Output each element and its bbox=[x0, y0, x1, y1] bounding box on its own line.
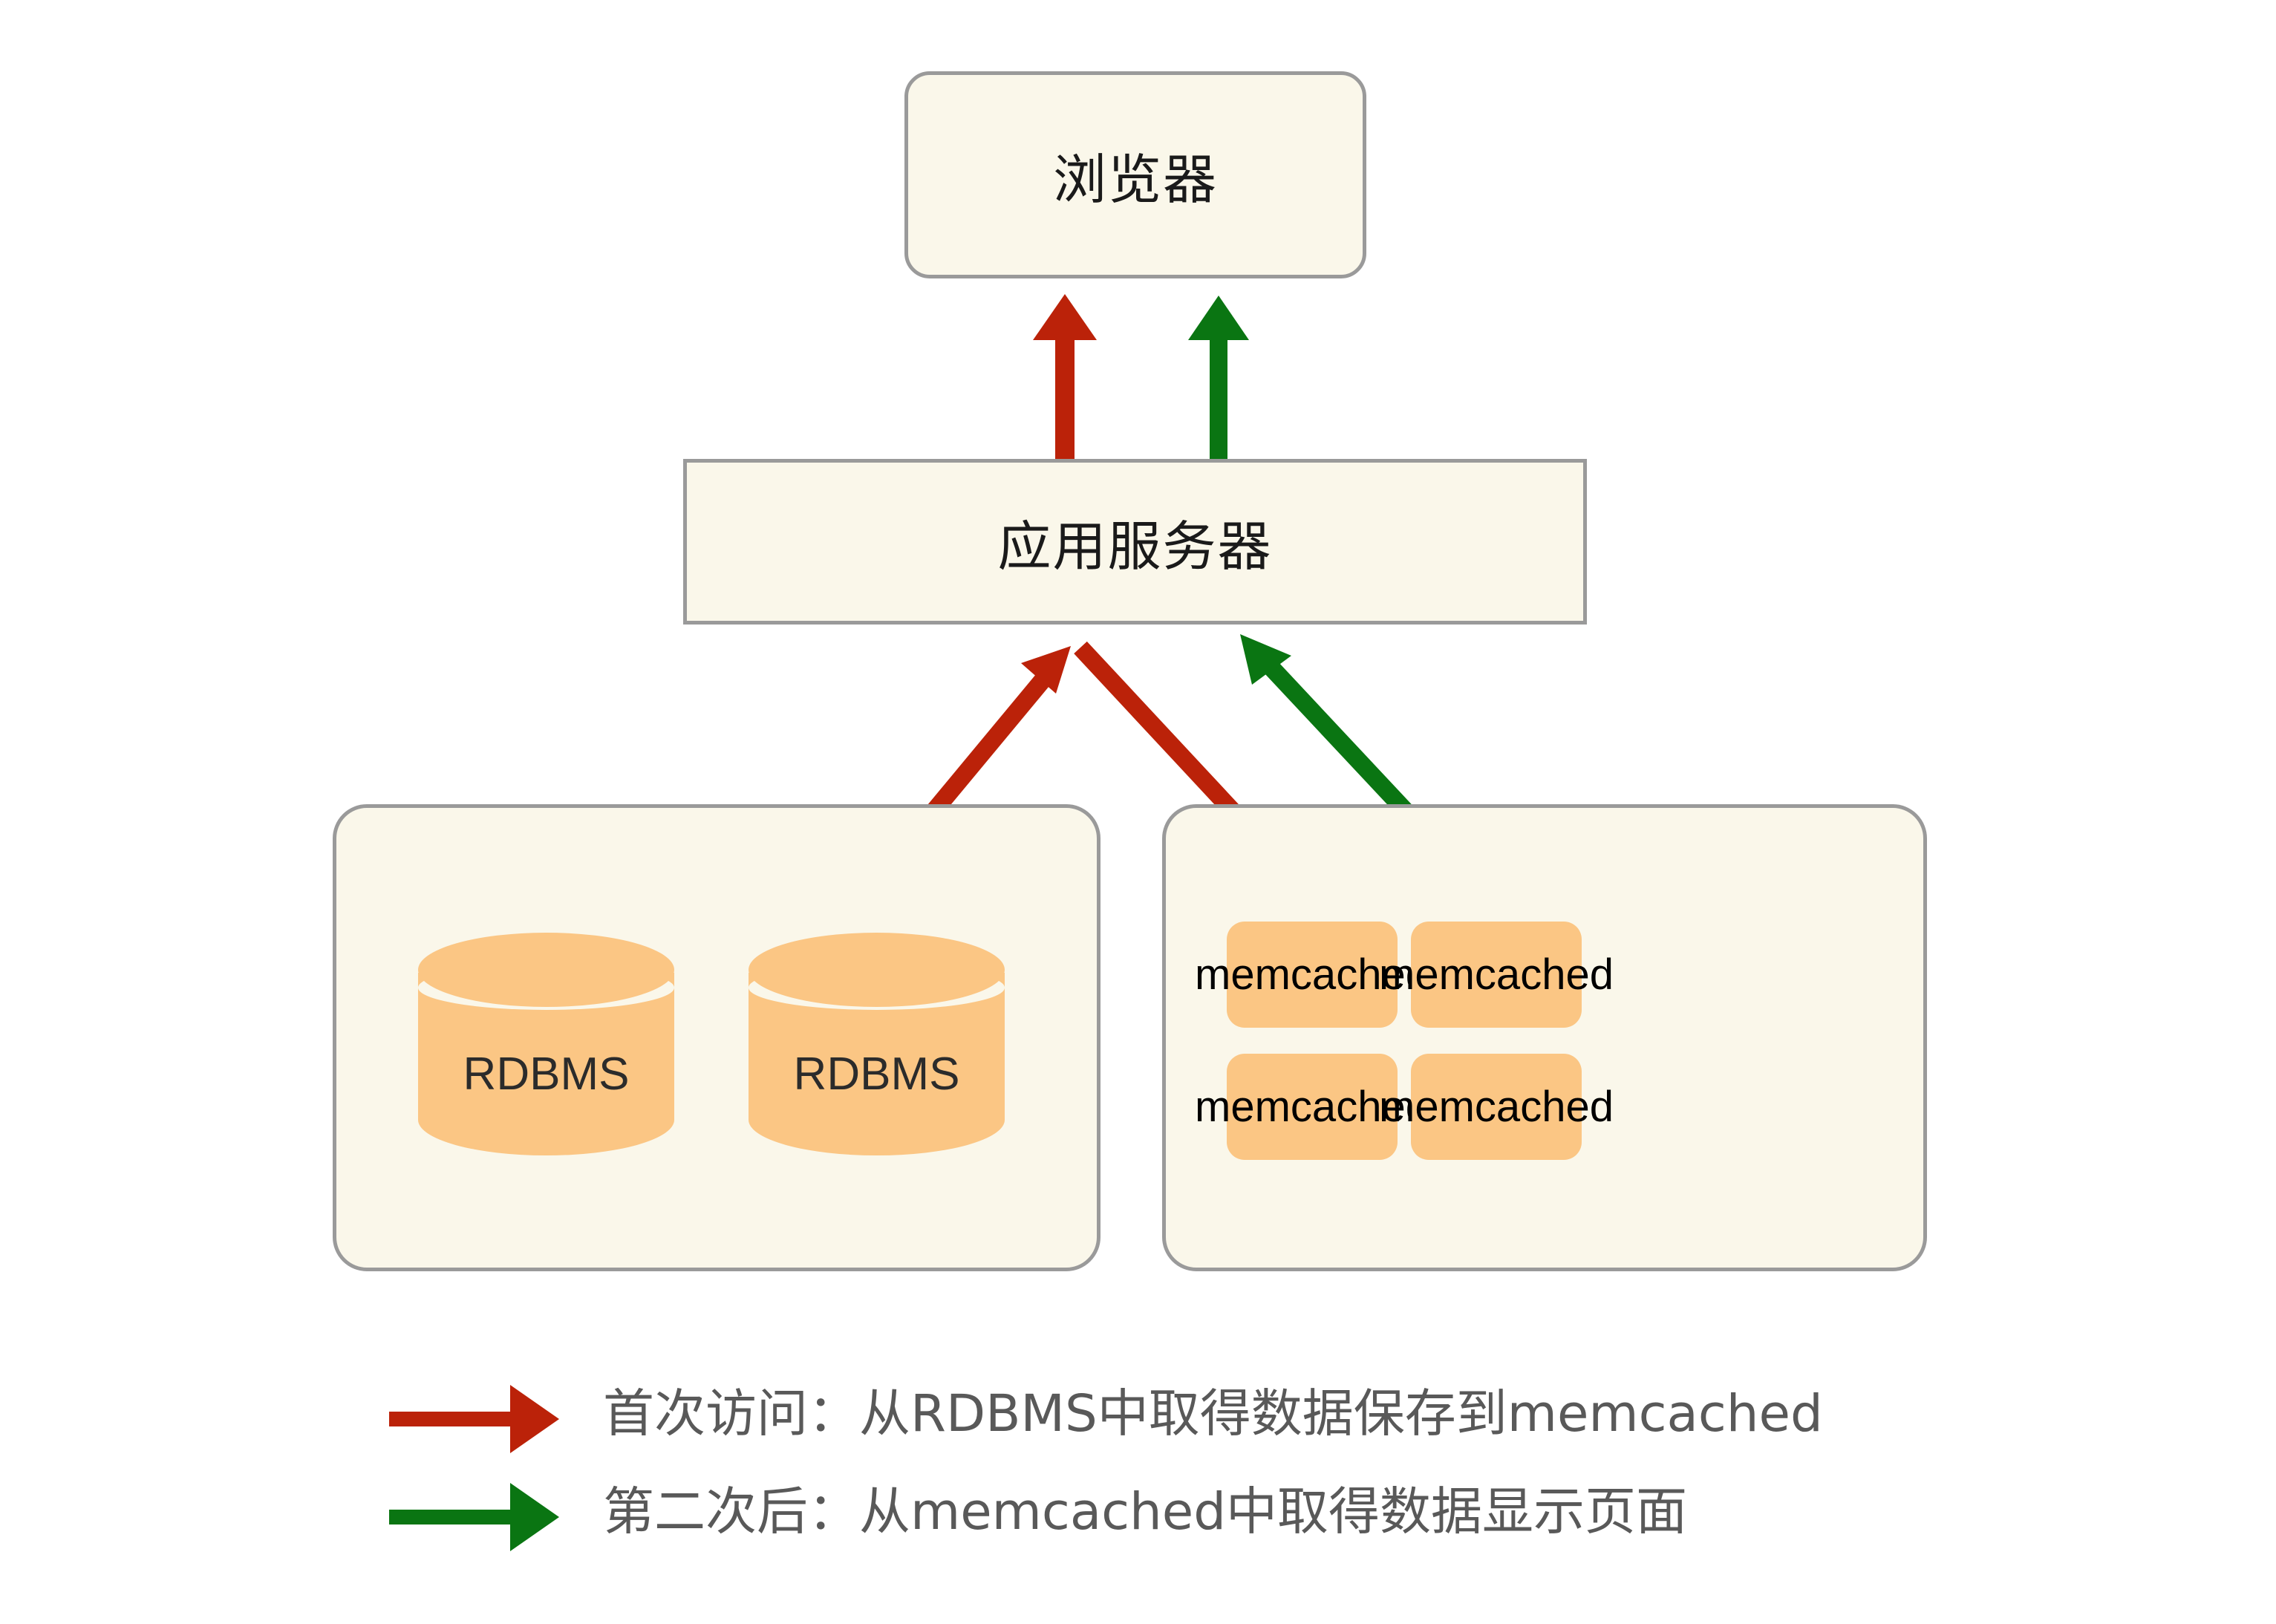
node-app-server-label: 应用服务器 bbox=[997, 503, 1272, 581]
legend-label-first-access: 首次访问：从RDBMS中取得数据保存到memcached bbox=[603, 1372, 1823, 1446]
legend-row-second-access: 第二次后：从memcached中取得数据显示页面 bbox=[379, 1468, 2012, 1566]
legend: 首次访问：从RDBMS中取得数据保存到memcached 第二次后：从memca… bbox=[379, 1370, 2012, 1566]
right-arrow-icon bbox=[379, 1370, 579, 1468]
group-cache bbox=[1162, 804, 1927, 1271]
database-cylinder[interactable]: RDBMS bbox=[749, 933, 1005, 1155]
cache-node[interactable]: memcached bbox=[1227, 1054, 1398, 1160]
cache-node[interactable]: memcached bbox=[1227, 922, 1398, 1028]
cache-node[interactable]: memcached bbox=[1411, 1054, 1582, 1160]
edge-app-to-browser-second bbox=[1188, 296, 1249, 459]
right-arrow-icon bbox=[379, 1468, 579, 1566]
node-browser[interactable]: 浏览器 bbox=[904, 71, 1366, 278]
database-cylinder-label: RDBMS bbox=[418, 1048, 674, 1100]
node-browser-label: 浏览器 bbox=[1053, 136, 1218, 214]
node-app-server[interactable]: 应用服务器 bbox=[683, 459, 1587, 625]
database-cylinder-label: RDBMS bbox=[749, 1048, 1005, 1100]
cache-node[interactable]: memcached bbox=[1411, 922, 1582, 1028]
edge-app-to-browser-first bbox=[1033, 294, 1097, 459]
legend-row-first-access: 首次访问：从RDBMS中取得数据保存到memcached bbox=[379, 1370, 2012, 1468]
cylinder-top-ellipse bbox=[749, 933, 1005, 1007]
cylinder-top-ellipse bbox=[418, 933, 674, 1007]
database-cylinder[interactable]: RDBMS bbox=[418, 933, 674, 1155]
diagram-canvas: 浏览器 应用服务器 RDBMS RDBMS memcached memcache… bbox=[0, 0, 2276, 1624]
legend-label-second-access: 第二次后：从memcached中取得数据显示页面 bbox=[603, 1470, 1687, 1544]
